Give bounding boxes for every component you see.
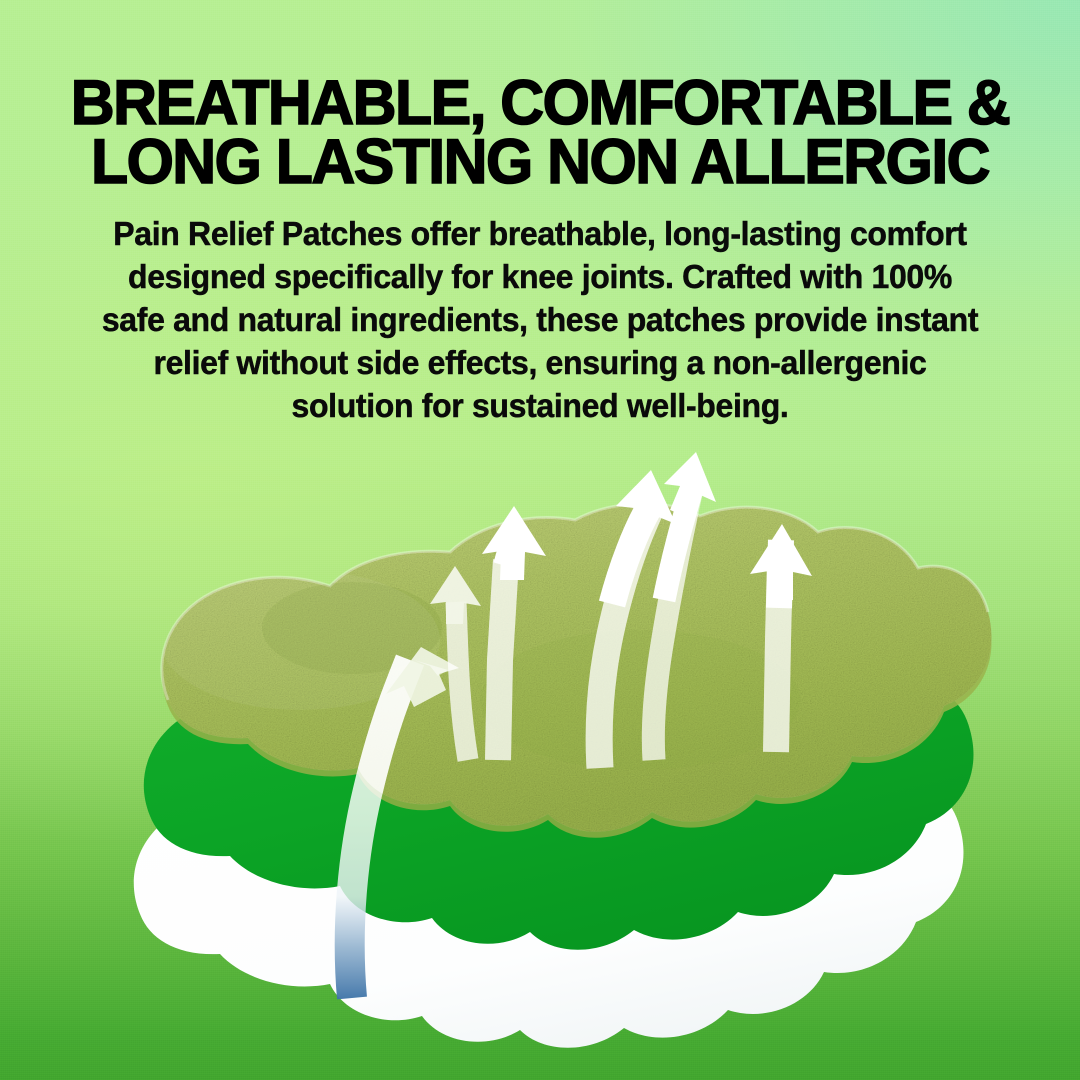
headline-line-2: LONG LASTING NON ALLERGIC [91,127,989,197]
patch-illustration-hotspot[interactable] [110,450,970,1080]
page-title: BREATHABLE, COMFORTABLE & LONG LASTING N… [19,0,1061,191]
text-block: BREATHABLE, COMFORTABLE & LONG LASTING N… [0,0,1080,428]
promo-card: BREATHABLE, COMFORTABLE & LONG LASTING N… [0,0,1080,1080]
description-paragraph: Pain Relief Patches offer breathable, lo… [24,191,1055,428]
